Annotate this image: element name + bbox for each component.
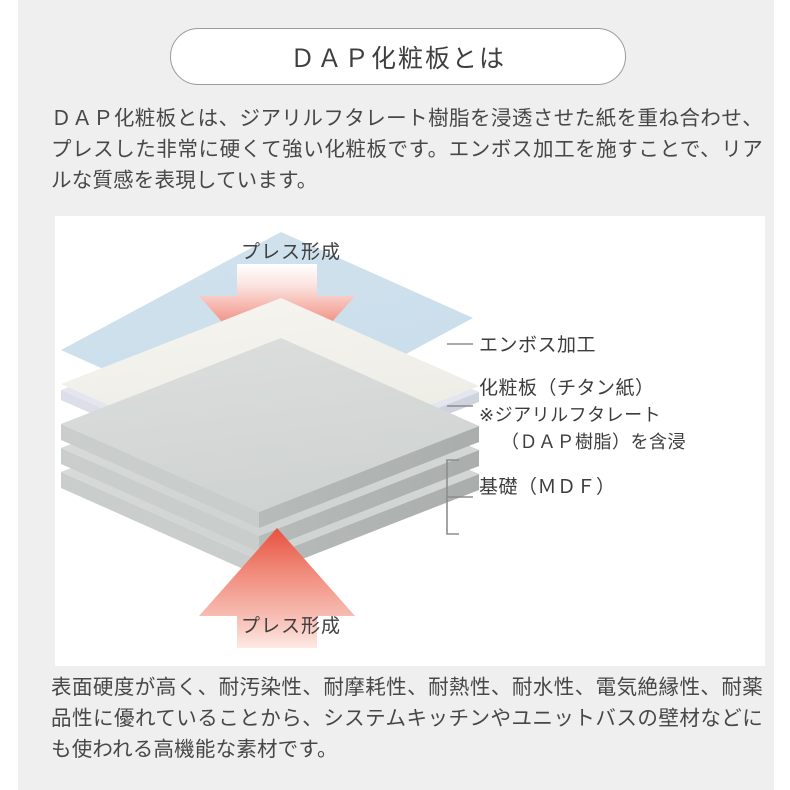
- page-root: ＤＡＰ化粧板とは ＤＡＰ化粧板とは、ジアリルフタレート樹脂を浸透させた紙を重ね合…: [0, 0, 790, 790]
- label-keshouban-note1: ※ジアリルフタレート: [479, 402, 686, 429]
- label-keshouban-group: 化粧板（チタン紙） ※ジアリルフタレート （ＤＡＰ樹脂）を含浸: [479, 375, 686, 456]
- label-emboss: エンボス加工: [479, 332, 596, 359]
- label-mdf: 基礎（ＭＤＦ）: [479, 474, 616, 501]
- page-title: ＤＡＰ化粧板とは: [290, 39, 506, 75]
- label-keshouban-note2: （ＤＡＰ樹脂）を含浸: [479, 429, 686, 456]
- page-title-badge: ＤＡＰ化粧板とは: [170, 28, 626, 85]
- diagram-illustration: プレス形成 プレス形成 エンボス加工 化粧板（チタン紙） ※ジアリルフタレート …: [55, 216, 765, 666]
- diagram-card: プレス形成 プレス形成 エンボス加工 化粧板（チタン紙） ※ジアリルフタレート …: [55, 216, 765, 666]
- intro-paragraph: ＤＡＰ化粧板とは、ジアリルフタレート樹脂を浸透させた紙を重ね合わせ、プレスした非…: [51, 103, 763, 196]
- label-keshouban: 化粧板（チタン紙）: [479, 378, 655, 399]
- press-top-label: プレス形成: [241, 237, 341, 264]
- outro-paragraph: 表面硬度が高く、耐汚染性、耐摩耗性、耐熱性、耐水性、電気絶縁性、耐薬品性に優れて…: [51, 672, 763, 765]
- press-bottom-label: プレス形成: [241, 611, 341, 638]
